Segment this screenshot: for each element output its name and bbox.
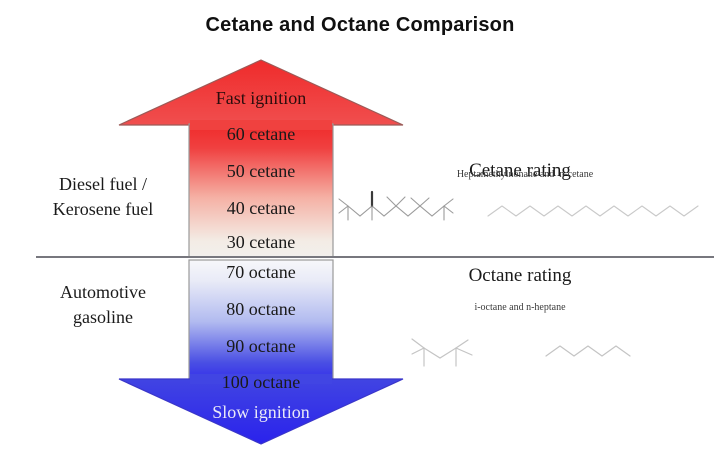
i-octane-molecule-icon (406, 330, 496, 378)
arrow-label-90-octane: 90 octane (115, 336, 407, 357)
arrow-label-fast-ignition: Fast ignition (115, 88, 407, 109)
diagram-canvas: Cetane and Octane Comparison (0, 0, 720, 465)
left-label-gasoline-line2: gasoline (18, 305, 188, 330)
cetane-rating-subtitle: Heptamethylnonane and n-cetane (395, 169, 655, 180)
left-label-gasoline: Automotive gasoline (18, 280, 188, 330)
arrow-label-100-octane: 100 octane (115, 372, 407, 393)
octane-rating-heading: Octane rating (430, 265, 610, 287)
heptamethylnonane-molecule-icon (338, 190, 458, 236)
left-label-diesel-line2: Kerosene fuel (18, 197, 188, 222)
arrow-label-slow-ignition: Slow ignition (115, 402, 407, 423)
left-label-diesel-line1: Diesel fuel / (18, 172, 188, 197)
arrow-label-60-cetane: 60 cetane (115, 124, 407, 145)
section-divider (36, 256, 714, 258)
n-heptane-molecule-icon (544, 340, 654, 364)
page-title: Cetane and Octane Comparison (0, 14, 720, 37)
left-label-gasoline-line1: Automotive (18, 280, 188, 305)
octane-rating-subtitle: i-octane and n-heptane (400, 302, 640, 313)
left-label-diesel: Diesel fuel / Kerosene fuel (18, 172, 188, 222)
n-cetane-molecule-icon (486, 198, 708, 224)
